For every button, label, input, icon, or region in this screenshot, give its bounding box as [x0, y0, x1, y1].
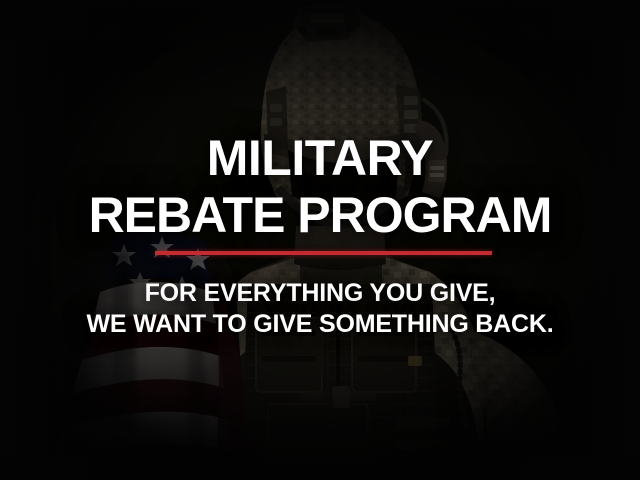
red-divider-rule [155, 251, 492, 255]
subtitle-line-1: FOR EVERYTHING YOU GIVE, [0, 281, 640, 306]
subtitle-line-2: WE WANT TO GIVE SOMETHING BACK. [0, 312, 640, 337]
headline-line-2: REBATE PROGRAM [0, 190, 640, 240]
headline-line-1: MILITARY [0, 133, 640, 183]
military-rebate-poster: MILITARY REBATE PROGRAM FOR EVERYTHING Y… [0, 0, 640, 480]
